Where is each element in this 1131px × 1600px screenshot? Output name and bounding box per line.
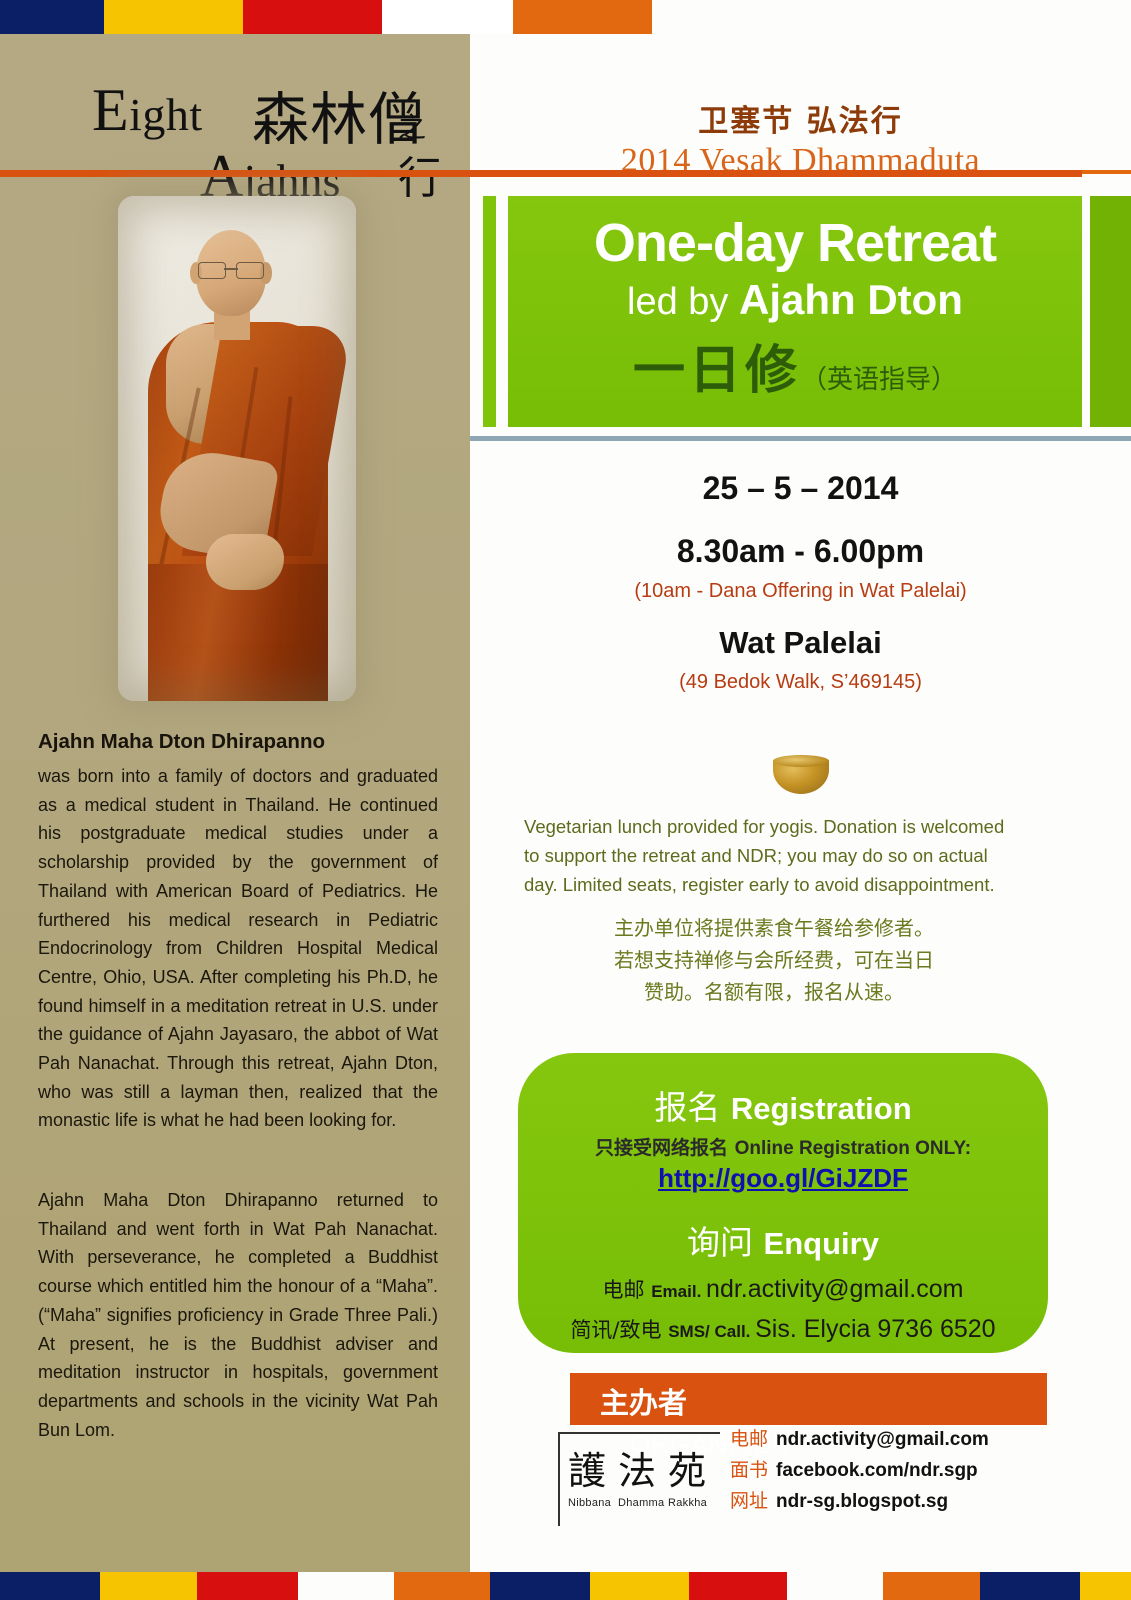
retreat-banner-chinese-big: 一日修 [633,340,801,401]
lunch-donation-note-chinese: 主办单位将提供素食午餐给参修者。 若想支持禅修与会所经费，可在当日 赞助。名额有… [524,912,1024,1008]
masthead: Eight Ajahns 森林僧 之 行 [0,34,470,170]
dana-offering-note: (10am - Dana Offering in Wat Palelai) [470,580,1131,603]
retreat-banner: One-day Retreat led by Ajahn Dton 一日修（英语… [508,196,1082,427]
registration-title: 报名 Registration [518,1053,1048,1129]
registration-box: 报名 Registration 只接受网络报名 Online Registrat… [518,1053,1048,1353]
registration-subtitle-chinese: 只接受网络报名 [595,1137,735,1159]
contact-label-facebook: 面书 [730,1459,768,1481]
bottom-strip-segment-1 [100,1572,197,1600]
bottom-strip-segment-5 [490,1572,590,1600]
registration-subtitle-english: Online Registration ONLY: [735,1138,971,1159]
bottom-strip-segment-8 [787,1572,883,1600]
registration-link-wrap: http://goo.gl/GiJZDF [518,1163,1048,1194]
ledby-name: Ajahn Dton [739,276,963,323]
bottom-strip-segment-9 [883,1572,980,1600]
strip-segment-yellow [104,0,243,34]
bio-name: Ajahn Maha Dton Dhirapanno [38,730,438,754]
green-accent-bar-left [483,196,496,427]
registration-url-link[interactable]: http://goo.gl/GiJZDF [658,1163,908,1193]
organiser-contact-row: 网址ndr-sg.blogspot.sg [730,1486,989,1517]
event-header-chinese: 卫塞节 弘法行 [470,96,1131,140]
masthead-eight-rest: ight [129,89,203,140]
orange-divider-rule-thick [0,170,1082,177]
steel-divider-rule [470,436,1131,441]
event-time: 8.30am - 6.00pm [470,533,1131,570]
bio-paragraph-2-text: Ajahn Maha Dton Dhirapanno returned to T… [38,1186,438,1444]
enquiry-title-english: Enquiry [764,1226,879,1261]
poster-root: Eight Ajahns 森林僧 之 行 卫塞节 弘法行 2014 Vesak … [0,0,1131,1600]
strip-segment-navy [0,0,104,34]
event-address: (49 Bedok Walk, S’469145) [470,671,1131,694]
enquiry-title: 询问 Enquiry [518,1216,1048,1264]
enquiry-email-value[interactable]: ndr.activity@gmail.com [706,1275,963,1303]
event-venue: Wat Palelai [470,625,1131,661]
masthead-chinese-zhi: 之 [398,106,426,146]
bottom-strip-segment-4 [394,1572,490,1600]
lunch-cn-line-3: 赞助。名额有限，报名从速。 [524,976,1024,1008]
bio-paragraph-2: Ajahn Maha Dton Dhirapanno returned to T… [38,1186,438,1444]
lunch-cn-line-2: 若想支持禅修与会所经费，可在当日 [524,944,1024,976]
retreat-banner-title: One-day Retreat [508,212,1082,274]
contact-value-facebook[interactable]: facebook.com/ndr.sgp [776,1460,978,1481]
bottom-strip-segment-11 [1080,1572,1131,1600]
bio-paragraph-1-text: was born into a family of doctors and gr… [38,762,438,1135]
contact-label-email: 电邮 [730,1428,768,1450]
contact-value-website[interactable]: ndr-sg.blogspot.sg [776,1491,948,1512]
enquiry-email-label-chinese: 电邮 [603,1278,652,1302]
organiser-contacts: 电邮ndr.activity@gmail.com 面书facebook.com/… [730,1424,989,1517]
enquiry-sms-row: 简讯/致电 SMS/ Call. Sis. Elycia 9736 6520 [518,1314,1048,1344]
bottom-strip-segment-2 [197,1572,298,1600]
green-accent-bar-right [1090,196,1131,427]
retreat-banner-chinese-small: （英语指导） [801,365,957,395]
ndr-logo-roman-2: Rakkha [668,1497,718,1509]
enquiry-sms-value[interactable]: Sis. Elycia 9736 6520 [755,1315,995,1343]
ndr-logo-roman-0: Nibbana [568,1497,618,1509]
strip-segment-orange [513,0,652,34]
contact-value-email[interactable]: ndr.activity@gmail.com [776,1429,989,1450]
registration-title-chinese: 报名 [654,1088,731,1127]
registration-title-english: Registration [731,1091,912,1126]
strip-segment-red [243,0,382,34]
contact-label-website: 网址 [730,1490,768,1512]
organiser-contact-row: 面书facebook.com/ndr.sgp [730,1455,989,1486]
enquiry-title-chinese: 询问 [687,1223,764,1262]
enquiry-sms-label-chinese: 简讯/致电 [570,1318,668,1342]
masthead-eight: Eight [92,76,203,145]
event-details: 25 – 5 – 2014 8.30am - 6.00pm (10am - Da… [470,470,1131,694]
ledby-prefix: led by [627,281,739,323]
event-date: 25 – 5 – 2014 [470,470,1131,507]
retreat-banner-ledby: led by Ajahn Dton [508,276,1082,324]
alms-bowl-icon [773,760,829,794]
ndr-logo: 護法苑 NibbanaDhammaRakkha [558,1432,720,1526]
bottom-strip-segment-7 [689,1572,787,1600]
lunch-cn-line-1: 主办单位将提供素食午餐给参修者。 [524,912,1024,944]
photo-vignette [118,196,356,701]
enquiry-email-label-english: Email. [651,1282,701,1301]
top-color-strip [0,0,652,34]
enquiry-sms-label-english: SMS/ Call. [668,1322,750,1341]
organiser-bar-chinese: 主办者 [600,1386,687,1420]
ndr-logo-roman-1: Dhamma [618,1497,668,1509]
strip-segment-white [382,0,513,34]
bottom-strip-segment-10 [980,1572,1080,1600]
bottom-strip-segment-6 [590,1572,689,1600]
bottom-strip-segment-3 [298,1572,394,1600]
ndr-logo-chinese: 護法苑 [560,1434,720,1495]
bottom-color-strip [0,1572,1131,1600]
organiser-contact-row: 电邮ndr.activity@gmail.com [730,1424,989,1455]
event-header: 卫塞节 弘法行 2014 Vesak Dhammaduta [470,34,1131,170]
enquiry-email-row: 电邮 Email. ndr.activity@gmail.com [518,1274,1048,1304]
retreat-banner-chinese: 一日修（英语指导） [508,328,1082,403]
alms-bowl-wrap [470,760,1131,799]
bio-paragraph-1: was born into a family of doctors and gr… [38,762,438,1135]
registration-subtitle: 只接受网络报名 Online Registration ONLY: [518,1133,1048,1160]
ajahn-dton-photo [118,196,356,701]
bottom-strip-segment-0 [0,1572,100,1600]
lunch-donation-note: Vegetarian lunch provided for yogis. Don… [524,812,1024,899]
ndr-logo-roman: NibbanaDhammaRakkha [560,1497,720,1509]
organiser-bar: 主办者 ORGANISER [570,1373,1047,1425]
